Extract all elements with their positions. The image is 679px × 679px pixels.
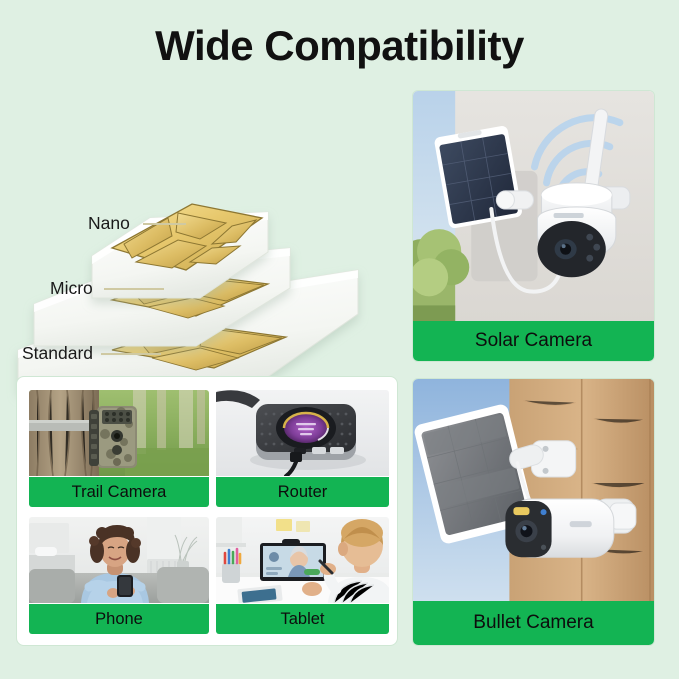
- infographic-page: Wide Compatibility: [0, 0, 679, 679]
- bullet-camera-photo: [413, 379, 654, 603]
- router-caption-bar: Router: [216, 477, 389, 507]
- phone-photo: [29, 517, 209, 603]
- router-photo: [216, 390, 389, 476]
- phone-caption-label: Phone: [95, 610, 143, 629]
- page-title: Wide Compatibility: [0, 22, 679, 70]
- product-card-bullet-camera[interactable]: Bullet Camera: [412, 378, 655, 646]
- compatible-devices-grid: Trail Camera: [16, 376, 398, 646]
- trail-camera-caption-label: Trail Camera: [72, 483, 167, 502]
- trail-camera-illustration: [29, 390, 209, 476]
- bullet-camera-caption-label: Bullet Camera: [473, 612, 593, 634]
- grid-cell-phone[interactable]: Phone: [29, 517, 209, 634]
- sim-kit-illustration: Nano Micro Standard 3-in-1 SIM kit: [0, 92, 400, 362]
- router-caption-label: Router: [278, 483, 328, 502]
- grid-cell-trail-camera[interactable]: Trail Camera: [29, 390, 209, 507]
- solar-camera-caption-bar: Solar Camera: [413, 321, 654, 361]
- tablet-caption-label: Tablet: [280, 610, 324, 629]
- sim-label-nano: Nano: [88, 213, 130, 234]
- product-card-solar-camera[interactable]: Solar Camera: [412, 90, 655, 362]
- bullet-camera-caption-bar: Bullet Camera: [413, 601, 654, 645]
- tablet-photo: [216, 517, 389, 603]
- phone-caption-bar: Phone: [29, 604, 209, 634]
- router-illustration: [216, 390, 389, 476]
- trail-camera-photo: [29, 390, 209, 476]
- grid-cell-tablet[interactable]: Tablet: [216, 517, 389, 634]
- solar-camera-illustration: [413, 91, 654, 323]
- sim-label-group: Nano Micro Standard: [0, 92, 400, 322]
- tablet-illustration: [216, 517, 389, 603]
- leader-line-micro: [104, 288, 164, 290]
- solar-camera-photo: [413, 91, 654, 323]
- leader-line-standard: [101, 353, 161, 355]
- bullet-camera-illustration: [413, 379, 654, 603]
- trail-camera-caption-bar: Trail Camera: [29, 477, 209, 507]
- leader-line-nano: [143, 223, 186, 225]
- tablet-caption-bar: Tablet: [216, 604, 389, 634]
- sim-label-micro: Micro: [50, 278, 93, 299]
- grid-cell-router[interactable]: Router: [216, 390, 389, 507]
- phone-illustration: [29, 517, 209, 603]
- sim-label-standard: Standard: [22, 343, 93, 364]
- solar-camera-caption-label: Solar Camera: [475, 330, 592, 352]
